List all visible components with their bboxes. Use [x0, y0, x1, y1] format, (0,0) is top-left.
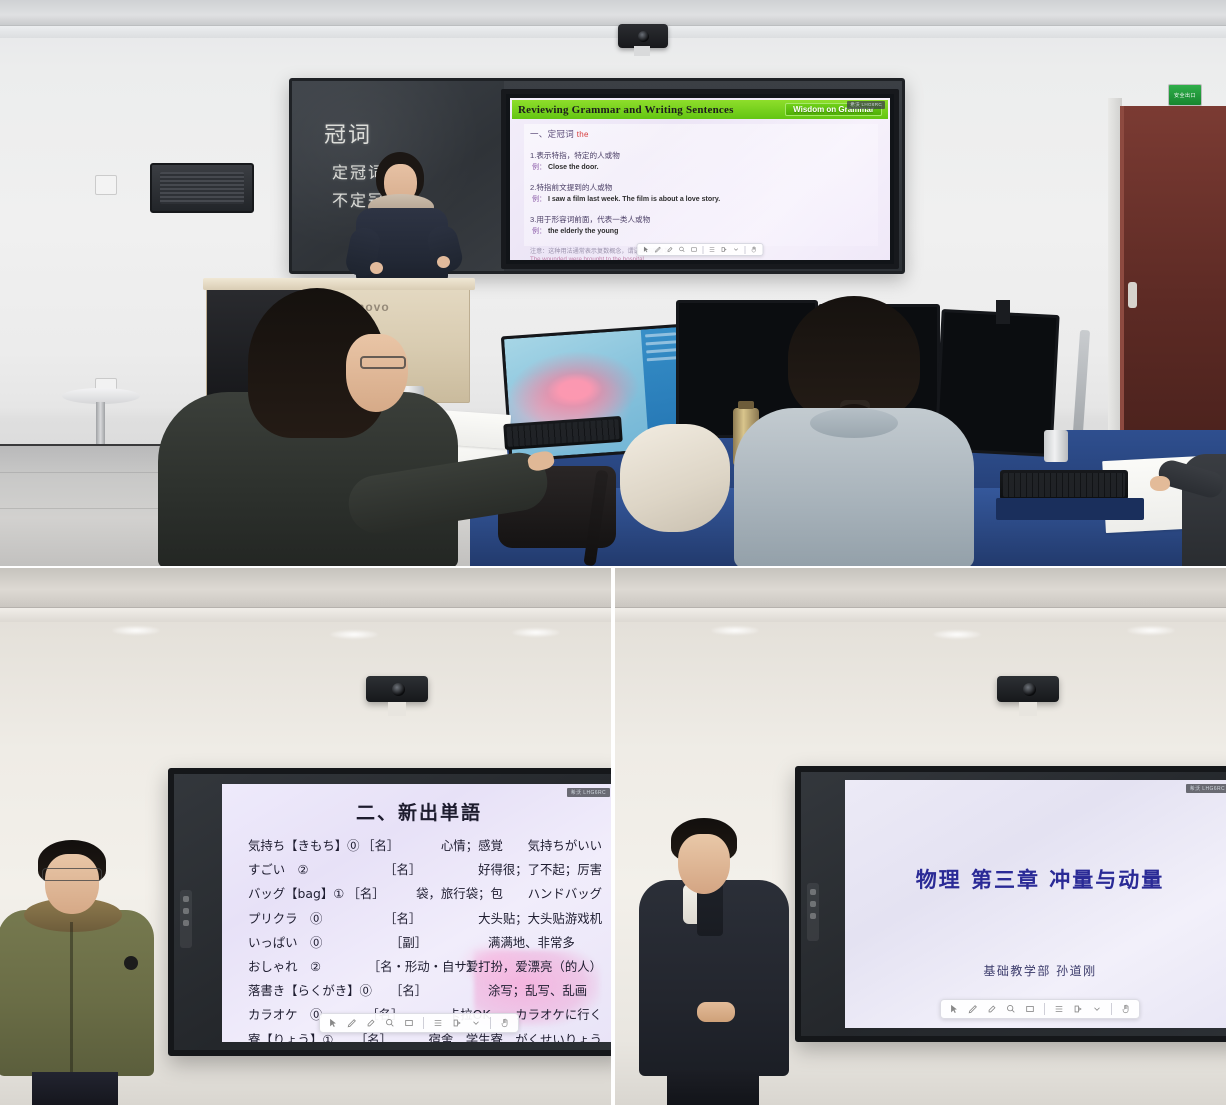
vocab-row: いっぱい ⓪ ［副］ 满满地、非常多: [248, 933, 602, 951]
device-tag: 希沃 LHG6RC: [847, 101, 885, 109]
slide-body: 一、定冠词 the 1.表示特指，特定的人或物 例： Close the doo…: [524, 124, 878, 246]
teacher-left-hand: [370, 262, 383, 274]
smartboard-screen[interactable]: Reviewing Grammar and Writing Sentences …: [501, 89, 899, 269]
vocab-word: おしゃれ ②: [248, 957, 368, 975]
example-1: 例： Close the door.: [532, 162, 599, 172]
vocab-word: いっぱい ⓪: [248, 933, 390, 951]
zoom-icon[interactable]: [679, 246, 686, 253]
jp-smartboard[interactable]: 希沃 LHG6RC 二、新出単語 気持ち【きもち】⓪ ［名］ 心情；感覚 気持ち…: [168, 768, 611, 1056]
jp-ceiling-lip: [0, 608, 611, 622]
ph-ceiling-light: [933, 630, 981, 639]
wall-socket: [95, 175, 117, 195]
ph-ceiling-camera-icon: [997, 676, 1059, 702]
jp-ceiling: [0, 568, 611, 608]
mousepad: [996, 498, 1144, 520]
wall-speaker: [150, 163, 254, 213]
jp-teacher-sleeve-badge: [124, 956, 138, 970]
example-label-2: 例：: [532, 196, 546, 203]
vocab-row: 気持ち【きもち】⓪ ［名］ 心情；感覚 気持ちがいい: [248, 836, 602, 854]
woman-glasses: [360, 356, 406, 369]
example-label-3: 例：: [532, 228, 546, 235]
hand-icon[interactable]: [751, 246, 758, 253]
student-collar: [810, 408, 898, 438]
ph-slide-toolbar[interactable]: [940, 999, 1140, 1019]
jp-slide-toolbar[interactable]: [319, 1013, 519, 1033]
jp-ceiling-light: [512, 628, 560, 637]
vocab-word: バッグ【bag】①: [248, 884, 347, 902]
jp-vocab-list: 気持ち【きもち】⓪ ［名］ 心情；感覚 気持ちがいい すごい ② ［名］ 好得很…: [248, 836, 602, 1042]
exit-sign: 安全出口: [1168, 84, 1202, 106]
example-label-1: 例：: [532, 164, 546, 171]
jp-teacher-jacket: [0, 910, 154, 1076]
rectangle-icon[interactable]: [691, 246, 698, 253]
student-back-view: [690, 296, 1012, 566]
example-text-3: the elderly the young: [548, 228, 618, 235]
rectangle-icon[interactable]: [404, 1018, 414, 1028]
list-icon[interactable]: [433, 1018, 443, 1028]
vocab-meaning: 心情；感覚 気持ちがいい: [441, 836, 602, 854]
rule-1: 1.表示特指，特定的人或物: [530, 150, 620, 161]
vocab-pos: ［名］: [362, 836, 441, 854]
vocab-meaning: 袋，旅行袋；包 ハンドバッグ: [416, 884, 602, 902]
ph-screen[interactable]: 希沃 LHG6RC 物理 第三章 冲量与动量 基础教学部 孙道刚: [845, 780, 1226, 1028]
vocab-pos: ［名］: [384, 860, 478, 878]
jp-teacher-legs: [32, 1072, 118, 1105]
jp-teacher-face: [45, 854, 99, 914]
ph-ceiling-light: [711, 626, 759, 635]
ph-teacher-face: [678, 834, 730, 894]
slide-title-bar: Reviewing Grammar and Writing Sentences …: [512, 100, 888, 119]
camera-mount: [634, 46, 650, 56]
jp-teacher-zipper: [70, 922, 73, 1072]
highlighter-icon[interactable]: [366, 1018, 376, 1028]
ph-ceiling-lip: [615, 608, 1226, 622]
ceiling-camera-icon: [618, 24, 668, 48]
rule-3: 3.用于形容词前面，代表一类人或物: [530, 214, 650, 225]
grammar-slide: Reviewing Grammar and Writing Sentences …: [510, 98, 890, 260]
collage-seam-vertical: [611, 568, 615, 1105]
chevron-down-icon[interactable]: [1092, 1004, 1102, 1014]
vocab-meaning: 涂写；乱写、乱画: [488, 981, 602, 999]
chevron-down-icon[interactable]: [733, 246, 740, 253]
rule-2: 2.特指前文提到的人或物: [530, 182, 612, 193]
pen-icon[interactable]: [968, 1004, 978, 1014]
chevron-down-icon[interactable]: [471, 1018, 481, 1028]
list-icon[interactable]: [709, 246, 716, 253]
list-icon[interactable]: [1054, 1004, 1064, 1014]
toolbar-divider: [423, 1017, 424, 1029]
keyboard-2[interactable]: [1000, 470, 1128, 500]
ph-ceiling-light: [1127, 626, 1175, 635]
jp-ceiling-camera-icon: [366, 676, 428, 702]
photo-collage: 冠词 定冠词 the 不定冠词 Reviewing Grammar and Wr…: [0, 0, 1226, 1105]
zoom-icon[interactable]: [385, 1018, 395, 1028]
highlighter-icon[interactable]: [667, 246, 674, 253]
door-handle[interactable]: [1128, 282, 1137, 308]
slide-heading: 一、定冠词 the: [530, 128, 589, 140]
teacher-right-hand: [437, 256, 450, 268]
jp-slide-title: 二、新出単語: [222, 798, 611, 825]
ph-camera-mount: [1019, 702, 1037, 716]
jp-device-tag: 希沃 LHG6RC: [567, 788, 610, 797]
jp-teacher: [2, 840, 152, 1105]
jp-board-side-keys[interactable]: [180, 890, 192, 948]
toolbar-divider-2: [745, 246, 746, 254]
export-icon[interactable]: [721, 246, 728, 253]
teacher-front: [348, 152, 456, 278]
person-writing-right: [1176, 424, 1226, 566]
hand-icon[interactable]: [1121, 1004, 1131, 1014]
chalk-line-1: 冠词: [324, 117, 372, 149]
hand-icon[interactable]: [500, 1018, 510, 1028]
rectangle-icon[interactable]: [1025, 1004, 1035, 1014]
vocab-meaning: 好得很；了不起；厉害: [478, 860, 602, 878]
ph-teacher-hands: [697, 1002, 735, 1022]
example-2: 例： I saw a film last week. The film is a…: [532, 194, 720, 204]
panel-classroom-wide: 冠词 定冠词 the 不定冠词 Reviewing Grammar and Wr…: [0, 0, 1226, 566]
toolbar-divider: [703, 246, 704, 254]
classroom-door[interactable]: [1120, 106, 1226, 446]
vocab-row: プリクラ ⓪ ［名］ 大头贴；大头贴游戏机: [248, 909, 602, 927]
panel-physics-lesson: 希沃 LHG6RC 物理 第三章 冲量与动量 基础教学部 孙道刚: [615, 568, 1226, 1105]
toolbar-divider: [1044, 1003, 1045, 1015]
paper-cup: [1044, 430, 1068, 462]
cursor-icon[interactable]: [328, 1018, 338, 1028]
jp-camera-mount: [388, 702, 406, 716]
vocab-meaning: 满满地、非常多: [488, 933, 602, 951]
cursor-icon[interactable]: [643, 246, 650, 253]
cursor-icon[interactable]: [949, 1004, 959, 1014]
ph-device-tag: 希沃 LHG6RC: [1186, 784, 1226, 793]
ph-teacher-legs: [667, 1070, 759, 1105]
panel-japanese-lesson: 希沃 LHG6RC 二、新出単語 気持ち【きもち】⓪ ［名］ 心情；感覚 気持ち…: [0, 568, 611, 1105]
slide-toolbar[interactable]: [637, 243, 764, 256]
vocab-word: プリクラ ⓪: [248, 909, 384, 927]
vocab-meaning: 爱打扮，爱漂亮（的人）: [466, 957, 602, 975]
ceiling-strip: [0, 0, 1226, 26]
vocab-word: 落書き【らくがき】⓪: [248, 981, 390, 999]
jp-teacher-glasses: [42, 868, 102, 881]
ph-ceiling: [615, 568, 1226, 608]
ph-smartboard[interactable]: 希沃 LHG6RC 物理 第三章 冲量与动量 基础教学部 孙道刚: [795, 766, 1226, 1042]
export-icon[interactable]: [452, 1018, 462, 1028]
slide-heading-accent: the: [577, 130, 589, 139]
example-3: 例： the elderly the young: [532, 226, 618, 236]
toolbar-divider-2: [1111, 1003, 1112, 1015]
example-text-1: Close the door.: [548, 164, 599, 171]
person-writing-hand: [1150, 476, 1170, 491]
toolbar-divider-2: [490, 1017, 491, 1029]
ph-slide-subtitle: 基础教学部 孙道刚: [845, 962, 1226, 979]
woman-dark-coat: [150, 288, 550, 566]
slide-title: Reviewing Grammar and Writing Sentences: [518, 104, 734, 116]
ph-teacher: [645, 818, 785, 1105]
jp-screen[interactable]: 希沃 LHG6RC 二、新出単語 気持ち【きもち】⓪ ［名］ 心情；感覚 気持ち…: [222, 784, 611, 1042]
vocab-pos: ［副］: [390, 933, 488, 951]
vocab-row: バッグ【bag】① ［名］ 袋，旅行袋；包 ハンドバッグ: [248, 884, 602, 902]
vocab-row: おしゃれ ② ［名・形动・自サ］ 爱打扮，爱漂亮（的人）: [248, 957, 602, 975]
slide-note-en: The wounded were brought to the hospital…: [530, 256, 646, 260]
pen-icon[interactable]: [655, 246, 662, 253]
export-icon[interactable]: [1073, 1004, 1083, 1014]
vocab-pos: ［名］: [390, 981, 488, 999]
vocab-pos: ［名］: [384, 909, 478, 927]
highlighter-icon[interactable]: [987, 1004, 997, 1014]
jp-ceiling-light: [330, 630, 378, 639]
jp-ceiling-light: [112, 626, 160, 635]
vocab-word: すごい ②: [248, 860, 384, 878]
ph-slide-title: 物理 第三章 冲量与动量: [845, 864, 1226, 894]
ceiling-lip: [0, 26, 1226, 38]
vocab-meaning: 大头贴；大头贴游戏机: [478, 909, 602, 927]
vocab-pos: ［名］: [347, 884, 416, 902]
vocab-word: 気持ち【きもち】⓪: [248, 836, 362, 854]
slide-heading-text: 一、定冠词: [530, 129, 574, 139]
vocab-row: すごい ② ［名］ 好得很；了不起；厉害: [248, 860, 602, 878]
example-text-2: I saw a film last week. The film is abou…: [548, 196, 720, 203]
zoom-icon[interactable]: [1006, 1004, 1016, 1014]
vocab-row: 落書き【らくがき】⓪ ［名］ 涂写；乱写、乱画: [248, 981, 602, 999]
pen-icon[interactable]: [347, 1018, 357, 1028]
vocab-pos: ［名・形动・自サ］: [368, 957, 466, 975]
ph-board-side-keys[interactable]: [807, 883, 819, 941]
